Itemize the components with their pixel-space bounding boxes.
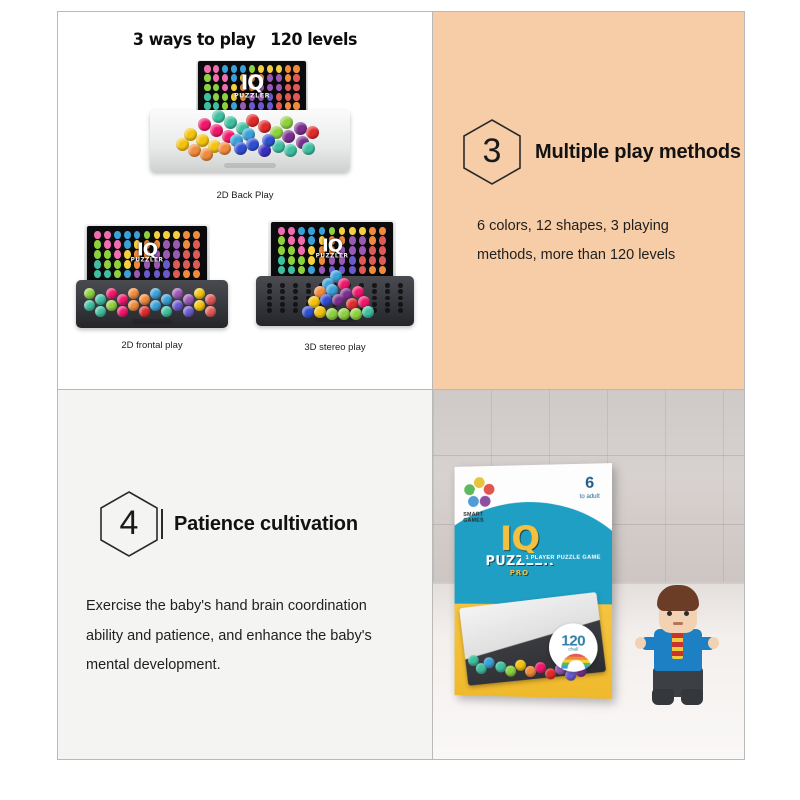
feature-4-header: 4 Patience cultivation xyxy=(98,490,412,558)
product-scene: SMART GAMES 6 to adult IQ PUZZLER PRO 1 … xyxy=(433,390,744,759)
age-label: to adult xyxy=(580,494,600,500)
puzzler-logo-text-stereo: PUZZLER xyxy=(316,255,349,260)
smart-games-icon xyxy=(463,477,495,510)
smart-games-wordmark: SMART GAMES xyxy=(463,511,500,524)
photo-stereo-play: IQ PUZZLER xyxy=(256,220,414,338)
caption-frontal-play: 2D frontal play xyxy=(76,340,228,351)
figure-eye-left xyxy=(667,611,672,616)
challenge-word: chall xyxy=(549,647,598,653)
feature-3-body: 6 colors, 12 shapes, 3 playing methods, … xyxy=(477,212,728,270)
feature-3-body-line2: methods, more than 120 levels xyxy=(477,241,728,270)
balls-stereo-pyramid xyxy=(300,270,380,326)
age-badge: 6 to adult xyxy=(580,476,600,501)
panel-feature-3: 3 Multiple play methods 6 colors, 12 sha… xyxy=(432,11,745,390)
age-number: 6 xyxy=(580,476,600,493)
feature-4-body-line3: mental development. xyxy=(86,651,412,681)
panel-feature-4: 4 Patience cultivation Exercise the baby… xyxy=(57,390,432,760)
feature-4-number: 4 xyxy=(98,490,160,558)
player-count-strip: 1 PLAYER PUZZLE GAME xyxy=(521,553,606,563)
iq-logo-text-stereo: IQ xyxy=(316,238,349,255)
headline-part2: 120 levels xyxy=(270,30,357,50)
figure-mouth xyxy=(673,622,683,625)
smart-games-logo: SMART GAMES xyxy=(463,477,500,525)
photo-frontal-play: IQ PUZZLER xyxy=(76,224,228,336)
feature-4-divider xyxy=(161,509,163,539)
puzzle-lid-back: IQ PUZZLER xyxy=(198,61,306,114)
figure-hand-left xyxy=(635,637,646,649)
headline-part1: 3 ways to play xyxy=(133,30,255,50)
challenge-badge: 120 chall xyxy=(549,623,598,672)
photo-back-play: IQ PUZZLER xyxy=(150,60,350,190)
balls-frontal-play xyxy=(82,286,222,324)
iq-logo-lid: IQ PUZZLER xyxy=(234,74,270,99)
figure-foot-left xyxy=(652,689,674,705)
brand-line-2: GAMES xyxy=(463,518,500,525)
rainbow-icon xyxy=(561,653,591,669)
feature-block-4: 4 Patience cultivation Exercise the baby… xyxy=(98,490,412,681)
box-title-pro: PRO xyxy=(486,569,554,577)
panel-product-photo: SMART GAMES 6 to adult IQ PUZZLER PRO 1 … xyxy=(432,390,745,760)
figure-hand-right xyxy=(708,637,719,649)
box-title: IQ PUZZLER PRO xyxy=(486,525,554,577)
panel-headline: 3 ways to play120 levels xyxy=(71,30,419,50)
feature-4-body-line2: ability and patience, and enhance the ba… xyxy=(86,622,412,652)
feature-3-number: 3 xyxy=(461,118,523,186)
puzzle-lid-frontal: IQ PUZZLER xyxy=(87,226,207,283)
iq-logo-text-frontal: IQ xyxy=(131,242,164,259)
feature-4-body: Exercise the baby's hand brain coordinat… xyxy=(86,592,412,681)
feature-block-3: 3 Multiple play methods 6 colors, 12 sha… xyxy=(461,118,728,270)
puzzler-logo-text-frontal: PUZZLER xyxy=(131,259,164,264)
infographic-sheet: 3 ways to play120 levels IQ PUZZLER xyxy=(57,11,745,760)
feature-3-header: 3 Multiple play methods xyxy=(461,118,728,186)
iq-logo-text: IQ xyxy=(234,74,270,93)
product-box: SMART GAMES 6 to adult IQ PUZZLER PRO 1 … xyxy=(455,463,612,699)
hexagon-badge-4: 4 xyxy=(98,490,160,558)
balls-back-play xyxy=(172,108,330,166)
feature-4-title: Patience cultivation xyxy=(174,513,358,536)
panel-play-modes: 3 ways to play120 levels IQ PUZZLER xyxy=(57,11,432,390)
caption-stereo-play: 3D stereo play xyxy=(256,342,414,353)
figure-eye-right xyxy=(684,611,689,616)
figure-tie xyxy=(672,633,683,659)
feature-4-body-line1: Exercise the baby's hand brain coordinat… xyxy=(86,592,412,622)
caption-back-play: 2D Back Play xyxy=(58,190,432,201)
box-title-iq: IQ xyxy=(486,525,554,554)
hexagon-badge-3: 3 xyxy=(461,118,523,186)
puzzler-logo-text: PUZZLER xyxy=(234,93,270,99)
feature-3-title: Multiple play methods xyxy=(535,141,741,164)
figure-hair xyxy=(657,585,699,611)
toy-figure xyxy=(640,585,716,705)
feature-3-body-line1: 6 colors, 12 shapes, 3 playing xyxy=(477,212,728,241)
figure-foot-right xyxy=(681,689,703,705)
